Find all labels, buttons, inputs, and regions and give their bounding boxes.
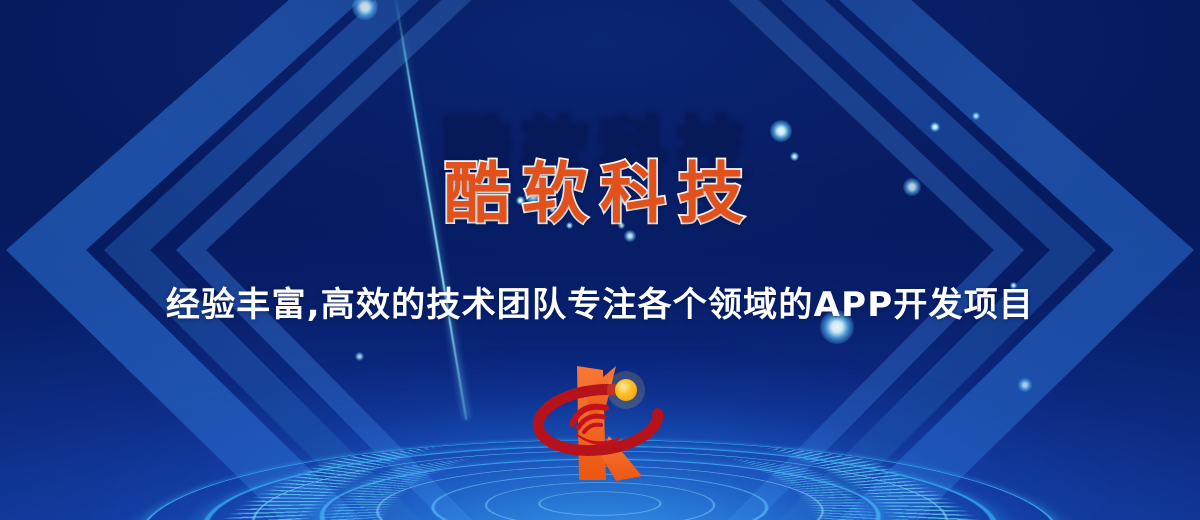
page-title: 酷软科技 bbox=[0, 140, 1200, 236]
hero-banner: 酷软科技 酷软科技 经验丰富,高效的技术团队专注各个领域的APP开发项目 bbox=[0, 0, 1200, 520]
logo-dot-halo bbox=[607, 371, 645, 409]
brand-logo-icon bbox=[520, 348, 680, 498]
page-subtitle: 经验丰富,高效的技术团队专注各个领域的APP开发项目 bbox=[0, 277, 1200, 326]
